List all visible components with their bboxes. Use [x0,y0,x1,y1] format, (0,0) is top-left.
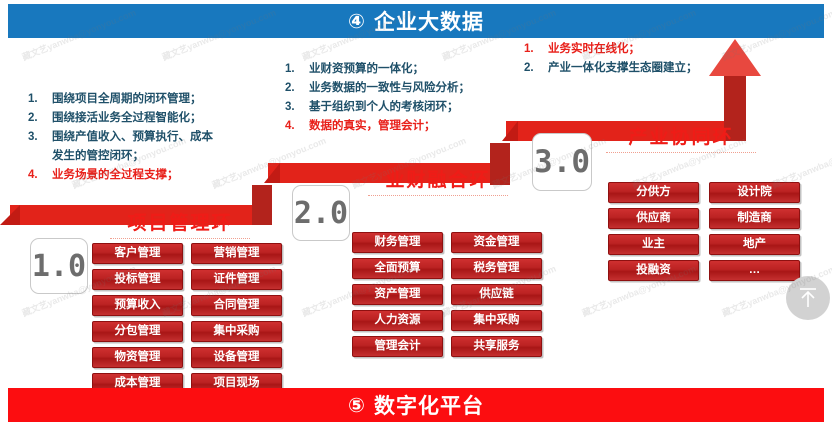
module-grid-industry-collaboration: 分供方 设计院 供应商 制造商 业主 地产 投融资 … [608,182,800,281]
module-box[interactable]: 集中采购 [451,310,542,331]
list-item: 1.围绕项目全周期的闭环管理； [28,90,213,109]
list-item: 1.业财资预算的一体化； [285,60,470,79]
module-box[interactable]: 集中采购 [191,321,282,342]
module-box[interactable]: … [709,260,800,281]
bullet-number: 1. [524,40,534,59]
module-box[interactable]: 地产 [709,234,800,255]
bullet-text: 围绕项目全周期的闭环管理； [52,93,202,105]
module-box[interactable]: 供应链 [451,284,542,305]
list-item: 4.数据的真实，管理会计； [285,117,470,136]
bullet-text: 业财资预算的一体化； [309,63,424,75]
bullet-text: 业务实时在线化； [548,43,640,55]
module-box[interactable]: 制造商 [709,208,800,229]
list-item: 1.业务实时在线化； [524,40,698,59]
list-item: 2.围绕接活业务全过程智能化； [28,109,213,128]
module-box[interactable]: 共享服务 [451,336,542,357]
list-item: 3.基于组织到个人的考核闭环； [285,98,470,117]
module-box[interactable]: 营销管理 [191,243,282,264]
arrow-up-icon [796,286,820,310]
bullet-number: 4. [285,117,295,136]
version-chip-2: 2.0 [292,185,350,241]
module-box[interactable]: 客户管理 [92,243,183,264]
ring-title-finance-business-fusion: 业财融合环 [368,165,508,196]
module-box[interactable]: 分供方 [608,182,699,203]
header-banner-number: ④ [348,9,366,34]
bullet-text: 基于组织到个人的考核闭环； [309,101,459,113]
version-chip-1: 1.0 [30,238,88,294]
bullet-number: 4. [28,166,38,185]
bullet-number: 1. [285,60,295,79]
ring-title-text: 项目管理环 [127,213,232,234]
version-label: 1.0 [32,249,86,284]
bullet-text: 业务场景的全过程支撑； [52,169,179,181]
module-box[interactable]: 设备管理 [191,347,282,368]
module-box[interactable]: 预算收入 [92,295,183,316]
module-box[interactable]: 资产管理 [352,284,443,305]
bullet-text: 围绕产值收入、预算执行、成本 [52,131,213,143]
module-box[interactable]: 投标管理 [92,269,183,290]
bullet-list-finance-business-fusion: 1.业财资预算的一体化； 2.业务数据的一致性与风险分析； 3.基于组织到个人的… [285,60,470,136]
ring-title-text: 业财融合环 [385,170,490,191]
module-box[interactable]: 物资管理 [92,347,183,368]
ring-title-underline [606,152,756,153]
stair-riser-1 [252,185,272,225]
module-box[interactable]: 合同管理 [191,295,282,316]
bullet-number: 2. [524,59,534,78]
bullet-number: 2. [285,79,295,98]
version-chip-3: 3.0 [532,133,592,191]
arrow-up-icon [709,39,761,76]
module-box[interactable]: 分包管理 [92,321,183,342]
bullet-list-project-management: 1.围绕项目全周期的闭环管理； 2.围绕接活业务全过程智能化； 3.围绕产值收入… [28,90,213,185]
list-item: 2.业务数据的一致性与风险分析； [285,79,470,98]
bullet-text: 产业一体化支撑生态圈建立； [548,62,698,74]
list-item: 2.产业一体化支撑生态圈建立； [524,59,698,78]
module-box[interactable]: 投融资 [608,260,699,281]
footer-banner-title: 数字化平台 [374,390,484,420]
bullet-text-continued: 发生的管控闭环； [52,147,213,166]
ring-title-industry-collaboration: 产业协同环 [606,122,756,153]
bullet-number: 1. [28,90,38,109]
bullet-text: 业务数据的一致性与风险分析； [309,82,470,94]
bullet-number: 3. [28,128,38,147]
back-to-top-button[interactable] [786,276,830,320]
bullet-list-industry-collaboration: 1.业务实时在线化； 2.产业一体化支撑生态圈建立； [524,40,698,78]
module-box[interactable]: 人力资源 [352,310,443,331]
module-box[interactable]: 设计院 [709,182,800,203]
list-item: 3.围绕产值收入、预算执行、成本发生的管控闭环； [28,128,213,166]
footer-banner-number: ⑤ [348,393,366,418]
module-box[interactable]: 供应商 [608,208,699,229]
module-box[interactable]: 业主 [608,234,699,255]
module-grid-finance-business-fusion: 财务管理 资金管理 全面预算 税务管理 资产管理 供应链 人力资源 集中采购 管… [352,232,542,357]
bullet-text: 数据的真实，管理会计； [309,120,436,132]
module-box[interactable]: 税务管理 [451,258,542,279]
header-banner: ④ 企业大数据 [8,4,824,38]
footer-banner: ⑤ 数字化平台 [8,388,824,422]
module-box[interactable]: 全面预算 [352,258,443,279]
module-grid-project-management: 客户管理 营销管理 投标管理 证件管理 预算收入 合同管理 分包管理 集中采购 … [92,243,282,394]
ring-title-text: 产业协同环 [628,127,733,148]
list-item: 4.业务场景的全过程支撑； [28,166,213,185]
version-label: 2.0 [294,196,348,231]
module-box[interactable]: 管理会计 [352,336,443,357]
bullet-number: 2. [28,109,38,128]
header-banner-title: 企业大数据 [374,6,484,36]
bullet-text: 围绕接活业务全过程智能化； [52,112,202,124]
module-box[interactable]: 财务管理 [352,232,443,253]
module-box[interactable]: 证件管理 [191,269,282,290]
version-label: 3.0 [534,144,590,180]
module-box[interactable]: 资金管理 [451,232,542,253]
slide-canvas: ④ 企业大数据 1.围绕项目全周期的闭环管理； 2.围绕接活业务全过程智能化； … [0,0,832,426]
ring-title-underline [368,195,508,196]
bullet-number: 3. [285,98,295,117]
ring-title-underline [110,238,250,239]
ring-title-project-management: 项目管理环 [110,208,250,239]
